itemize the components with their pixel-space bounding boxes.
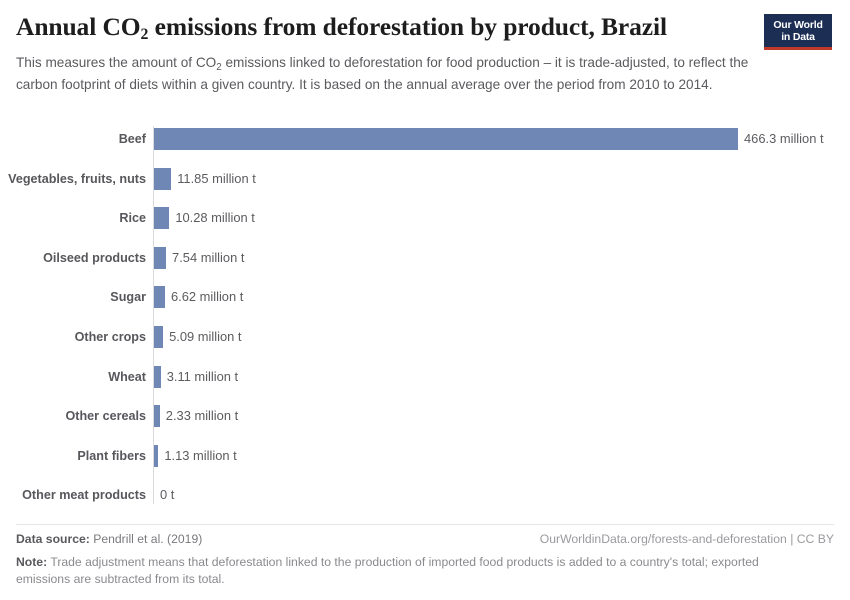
bar[interactable] bbox=[154, 366, 161, 388]
bar-row[interactable]: Plant fibers1.13 million t bbox=[0, 445, 850, 467]
owid-logo-line2: in Data bbox=[781, 31, 815, 43]
license-link[interactable]: OurWorldinData.org/forests-and-deforesta… bbox=[540, 532, 834, 546]
chart-note: Note: Trade adjustment means that defore… bbox=[16, 554, 816, 588]
data-source-value: Pendrill et al. (2019) bbox=[90, 532, 202, 546]
bar[interactable] bbox=[154, 405, 160, 427]
bar-row[interactable]: Vegetables, fruits, nuts11.85 million t bbox=[0, 168, 850, 190]
bar-value-label: 11.85 million t bbox=[177, 168, 256, 190]
bar-category-label: Beef bbox=[0, 128, 146, 150]
bar[interactable] bbox=[154, 168, 171, 190]
data-source: Data source: Pendrill et al. (2019) bbox=[16, 532, 202, 546]
bar-category-label: Other meat products bbox=[0, 484, 146, 506]
bar-row[interactable]: Rice10.28 million t bbox=[0, 207, 850, 229]
page-title: Annual CO2 emissions from deforestation … bbox=[16, 12, 756, 46]
bar[interactable] bbox=[154, 445, 158, 467]
bar-value-label: 6.62 million t bbox=[171, 286, 243, 308]
chart-header: Annual CO2 emissions from deforestation … bbox=[16, 12, 756, 94]
bar-chart: Beef466.3 million tVegetables, fruits, n… bbox=[0, 120, 850, 510]
bar-row[interactable]: Other meat products0 t bbox=[0, 484, 850, 506]
bar-category-label: Sugar bbox=[0, 286, 146, 308]
owid-logo[interactable]: Our World in Data bbox=[764, 14, 832, 50]
bar-value-label: 5.09 million t bbox=[169, 326, 241, 348]
title-subscript: 2 bbox=[141, 26, 149, 43]
bar[interactable] bbox=[154, 247, 166, 269]
source-row: Data source: Pendrill et al. (2019) OurW… bbox=[16, 532, 834, 548]
footer-divider bbox=[16, 524, 834, 525]
bar-row[interactable]: Oilseed products7.54 million t bbox=[0, 247, 850, 269]
bar-value-label: 466.3 million t bbox=[744, 128, 824, 150]
bar-value-label: 10.28 million t bbox=[175, 207, 255, 229]
bar-category-label: Other cereals bbox=[0, 405, 146, 427]
note-value: Trade adjustment means that deforestatio… bbox=[16, 555, 759, 586]
owid-logo-line1: Our World bbox=[773, 19, 822, 31]
bar-category-label: Oilseed products bbox=[0, 247, 146, 269]
bar-category-label: Wheat bbox=[0, 366, 146, 388]
chart-subtitle: This measures the amount of CO2 emission… bbox=[16, 53, 751, 94]
bar-row[interactable]: Wheat3.11 million t bbox=[0, 366, 850, 388]
bar-value-label: 7.54 million t bbox=[172, 247, 244, 269]
bar-category-label: Plant fibers bbox=[0, 445, 146, 467]
bar-value-label: 0 t bbox=[160, 484, 174, 506]
bar-row[interactable]: Other cereals2.33 million t bbox=[0, 405, 850, 427]
chart-page: Annual CO2 emissions from deforestation … bbox=[0, 0, 850, 600]
bar[interactable] bbox=[154, 207, 169, 229]
bar-value-label: 2.33 million t bbox=[166, 405, 238, 427]
bar-row[interactable]: Beef466.3 million t bbox=[0, 128, 850, 150]
bar[interactable] bbox=[154, 326, 163, 348]
bar-category-label: Rice bbox=[0, 207, 146, 229]
data-source-label: Data source: bbox=[16, 532, 90, 546]
title-suffix: emissions from deforestation by product,… bbox=[148, 12, 667, 41]
subtitle-subscript: 2 bbox=[216, 62, 221, 73]
subtitle-part1: This measures the amount of CO bbox=[16, 55, 216, 70]
note-label: Note: bbox=[16, 555, 47, 569]
bar-row[interactable]: Other crops5.09 million t bbox=[0, 326, 850, 348]
bar-row[interactable]: Sugar6.62 million t bbox=[0, 286, 850, 308]
bar-value-label: 1.13 million t bbox=[164, 445, 236, 467]
bar[interactable] bbox=[154, 128, 738, 150]
bar-category-label: Vegetables, fruits, nuts bbox=[0, 168, 146, 190]
bar-value-label: 3.11 million t bbox=[167, 366, 238, 388]
bar-category-label: Other crops bbox=[0, 326, 146, 348]
bar[interactable] bbox=[154, 286, 165, 308]
title-prefix: Annual CO bbox=[16, 12, 141, 41]
